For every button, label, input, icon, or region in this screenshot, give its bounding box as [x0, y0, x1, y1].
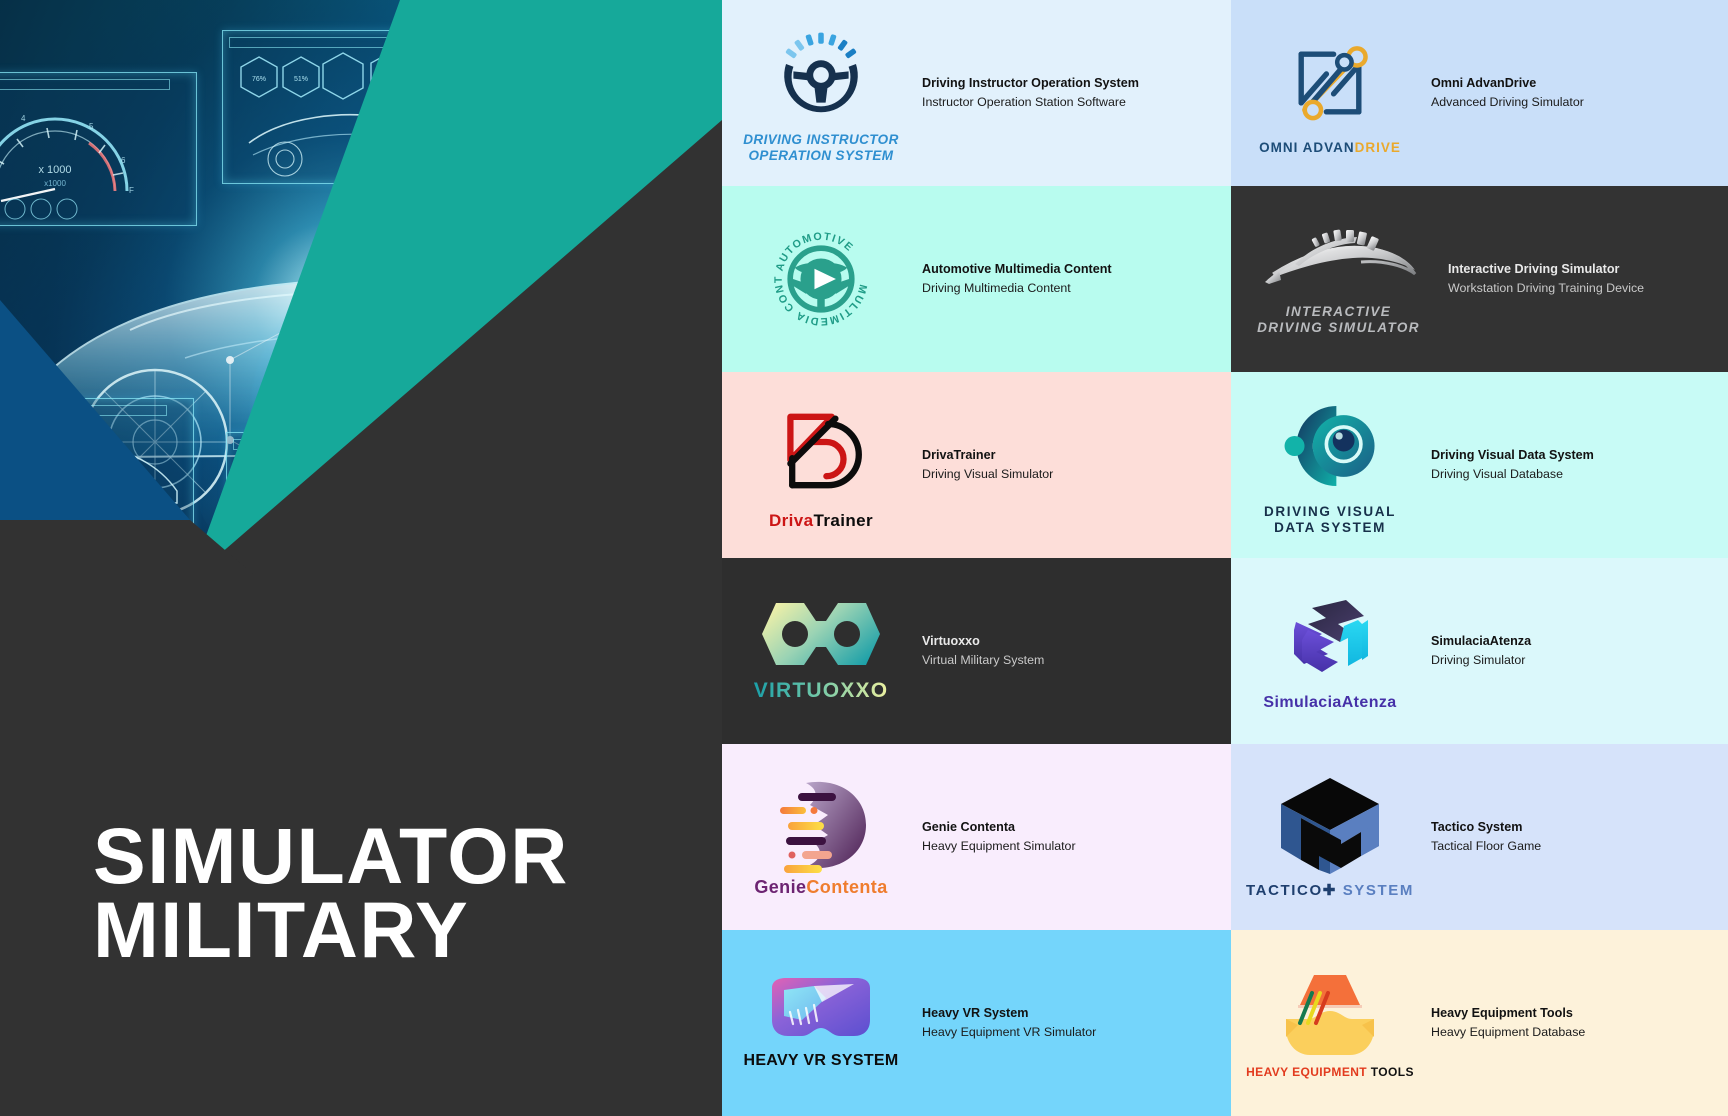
wordmark: SimulaciaAtenza — [1263, 694, 1396, 713]
wordmark-line-1: DRIVING INSTRUCTOR — [743, 132, 898, 148]
svg-text:F: F — [129, 186, 134, 195]
card-virtuoxxo[interactable]: VIRTUOXXO Virtuoxxo Virtual Military Sys… — [722, 558, 1231, 744]
logo-block: DRIVING INSTRUCTOR OPERATION SYSTEM — [722, 23, 920, 164]
cube-sm-icon — [1282, 590, 1378, 690]
card-drivatrainer[interactable]: DrivaTrainer DrivaTrainer Driving Visual… — [722, 372, 1231, 558]
card-title: Automotive Multimedia Content — [922, 261, 1231, 278]
svg-text:76%: 76% — [252, 76, 266, 83]
logo-block: VIRTUOXXO — [722, 599, 920, 704]
steering-wheel-play-icon: AUTOMOTIVE MULTIMEDIA CONTENT — [769, 223, 873, 335]
wordmark-line-1: OMNI ADVAN — [1259, 140, 1355, 155]
logo-block: HEAVY VR SYSTEM — [722, 976, 920, 1071]
wordmark-line-2: DRIVING SIMULATOR — [1257, 320, 1420, 336]
wordmark-line-1: HEAVY VR SYSTEM — [743, 1052, 898, 1069]
card-heavy-equipment-tools[interactable]: HEAVY EQUIPMENT TOOLS Heavy Equipment To… — [1231, 930, 1728, 1116]
logo-block: DrivaTrainer — [722, 399, 920, 531]
page-title: SIMULATOR MILITARY — [93, 819, 569, 966]
card-subtitle: Driving Simulator — [1431, 652, 1728, 670]
wordmark-line-2: Contenta — [806, 877, 887, 897]
wordmark-line-1: Driva — [769, 511, 814, 530]
card-title: Heavy VR System — [922, 1005, 1231, 1022]
wordmark-line-1: INTERACTIVE — [1257, 304, 1420, 320]
card-title: Genie Contenta — [922, 819, 1231, 836]
text-block: Genie Contenta Heavy Equipment Simulator — [920, 819, 1231, 856]
text-block: Virtuoxxo Virtual Military System — [920, 633, 1231, 670]
svg-text:51%: 51% — [294, 76, 308, 83]
card-driving-visual-data-system[interactable]: DRIVING VISUAL DATA SYSTEM Driving Visua… — [1231, 372, 1728, 558]
card-title: DrivaTrainer — [922, 447, 1231, 464]
slashed-d-icon — [769, 399, 873, 503]
text-block: DrivaTrainer Driving Visual Simulator — [920, 447, 1231, 484]
logo-block: HEAVY EQUIPMENT TOOLS — [1231, 967, 1429, 1079]
wordmark-line-1: TACTICO — [1246, 882, 1323, 899]
logo-block: SimulaciaAtenza — [1231, 590, 1429, 713]
card-subtitle: Instructor Operation Station Software — [922, 94, 1231, 112]
wordmark-line-1: DRIVING VISUAL — [1264, 504, 1396, 520]
text-block: Interactive Driving Simulator Workstatio… — [1446, 261, 1728, 298]
text-block: Heavy VR System Heavy Equipment VR Simul… — [920, 1005, 1231, 1042]
wordmark: VIRTUOXXO — [754, 679, 888, 704]
card-heavy-vr-system[interactable]: HEAVY VR SYSTEM Heavy VR System Heavy Eq… — [722, 930, 1231, 1116]
logo-block: INTERACTIVE DRIVING SIMULATOR — [1231, 222, 1446, 336]
card-tactico-system[interactable]: TACTICO✚ SYSTEM Tactico System Tactical … — [1231, 744, 1728, 930]
wordmark-line-1: SimulaciaAtenza — [1263, 694, 1396, 711]
isometric-cube-ts-icon — [1275, 774, 1385, 878]
wordmark: TACTICO✚ SYSTEM — [1246, 882, 1414, 900]
wordmark-line-2: Trainer — [814, 511, 874, 530]
card-subtitle: Driving Visual Simulator — [922, 466, 1231, 484]
card-subtitle: Heavy Equipment VR Simulator — [922, 1024, 1231, 1042]
diagonal-nodes-icon — [1278, 31, 1382, 135]
card-subtitle: Driving Multimedia Content — [922, 280, 1231, 298]
wordmark: DRIVING INSTRUCTOR OPERATION SYSTEM — [743, 132, 898, 164]
wordmark-line-2: DRIVE — [1355, 140, 1401, 155]
wordmark: GenieContenta — [754, 877, 887, 898]
card-subtitle: Tactical Floor Game — [1431, 838, 1728, 856]
text-block: Driving Instructor Operation System Inst… — [920, 75, 1231, 112]
svg-text:6: 6 — [121, 156, 126, 165]
excavator-bucket-icon — [1278, 967, 1382, 1063]
brand-portfolio-page: x 1000 x1000 234 56F 140H — [0, 0, 1728, 1116]
wordmark: DRIVING VISUAL DATA SYSTEM — [1264, 504, 1396, 536]
wordmark-line-2: SYSTEM — [1343, 882, 1414, 899]
card-subtitle: Heavy Equipment Database — [1431, 1024, 1728, 1042]
card-title: Tactico System — [1431, 819, 1728, 836]
card-title: Driving Instructor Operation System — [922, 75, 1231, 92]
steering-wheel-icon — [769, 23, 873, 127]
text-block: Tactico System Tactical Floor Game — [1429, 819, 1728, 856]
silver-car-swoosh-icon — [1259, 222, 1419, 296]
card-subtitle: Heavy Equipment Simulator — [922, 838, 1231, 856]
card-title: Interactive Driving Simulator — [1448, 261, 1728, 278]
card-interactive-driving-simulator[interactable]: INTERACTIVE DRIVING SIMULATOR Interactiv… — [1231, 186, 1728, 372]
card-genie-contenta[interactable]: GenieContenta Genie Contenta Heavy Equip… — [722, 744, 1231, 930]
logo-block: OMNI ADVANDRIVE — [1231, 31, 1429, 156]
wordmark: HEAVY VR SYSTEM — [743, 1052, 898, 1071]
logo-block: GenieContenta — [722, 775, 920, 898]
logo-block: DRIVING VISUAL DATA SYSTEM — [1231, 394, 1429, 536]
logo-block: AUTOMOTIVE MULTIMEDIA CONTENT — [722, 223, 920, 335]
crosshair-icon: ✚ — [1323, 882, 1337, 899]
text-block: Omni AdvanDrive Advanced Driving Simulat… — [1429, 75, 1728, 112]
card-title: Virtuoxxo — [922, 633, 1231, 650]
hero-image: x 1000 x1000 234 56F 140H — [0, 0, 722, 580]
page-title-line-1: SIMULATOR — [93, 819, 569, 892]
card-title: SimulaciaAtenza — [1431, 633, 1728, 650]
product-card-grid: DRIVING INSTRUCTOR OPERATION SYSTEM Driv… — [722, 0, 1728, 1116]
svg-text:x 1000: x 1000 — [38, 164, 71, 176]
page-title-line-2: MILITARY — [93, 893, 569, 966]
svg-text:4: 4 — [21, 114, 26, 123]
wordmark-line-2: DATA SYSTEM — [1264, 520, 1396, 536]
card-omni-advandrive[interactable]: OMNI ADVANDRIVE Omni AdvanDrive Advanced… — [1231, 0, 1728, 186]
card-title: Driving Visual Data System — [1431, 447, 1728, 464]
wordmark-line-2: TOOLS — [1371, 1065, 1414, 1079]
wordmark-line-2: OPERATION SYSTEM — [743, 148, 898, 164]
text-block: SimulaciaAtenza Driving Simulator — [1429, 633, 1728, 670]
card-title: Heavy Equipment Tools — [1431, 1005, 1728, 1022]
vr-goggles-hex-icon — [758, 599, 884, 669]
wordmark: DrivaTrainer — [769, 511, 873, 531]
svg-text:5: 5 — [89, 122, 94, 131]
card-subtitle: Advanced Driving Simulator — [1431, 94, 1728, 112]
face-speed-lines-icon — [766, 775, 876, 875]
wordmark-line-1: Genie — [754, 877, 806, 897]
card-subtitle: Virtual Military System — [922, 652, 1231, 670]
card-driving-instructor-operation-system[interactable]: DRIVING INSTRUCTOR OPERATION SYSTEM Driv… — [722, 0, 1231, 186]
hero-panel: x 1000 x1000 234 56F 140H — [0, 0, 722, 1116]
wordmark: INTERACTIVE DRIVING SIMULATOR — [1257, 304, 1420, 336]
card-simulaciaatenza[interactable]: SimulaciaAtenza SimulaciaAtenza Driving … — [1231, 558, 1728, 744]
logo-block: TACTICO✚ SYSTEM — [1231, 774, 1429, 900]
card-automotive-multimedia-content[interactable]: AUTOMOTIVE MULTIMEDIA CONTENT — [722, 186, 1231, 372]
svg-text:x1000: x1000 — [44, 179, 66, 188]
tachometer-icon: x 1000 x1000 234 56F 140H — [0, 73, 196, 225]
eye-circle-icon — [1278, 394, 1382, 498]
text-block: Driving Visual Data System Driving Visua… — [1429, 447, 1728, 484]
wordmark-line-1: HEAVY EQUIPMENT — [1246, 1065, 1367, 1079]
vr-headset-icon — [762, 976, 880, 1046]
card-subtitle: Workstation Driving Training Device — [1448, 280, 1728, 298]
wordmark: OMNI ADVANDRIVE — [1259, 140, 1401, 156]
wordmark: HEAVY EQUIPMENT TOOLS — [1246, 1065, 1414, 1079]
hud-panel-tachometer: x 1000 x1000 234 56F 140H — [0, 72, 197, 226]
card-title: Omni AdvanDrive — [1431, 75, 1728, 92]
wordmark-line-1: VIRTUOXXO — [754, 679, 888, 702]
card-subtitle: Driving Visual Database — [1431, 466, 1728, 484]
text-block: Heavy Equipment Tools Heavy Equipment Da… — [1429, 1005, 1728, 1042]
text-block: Automotive Multimedia Content Driving Mu… — [920, 261, 1231, 298]
